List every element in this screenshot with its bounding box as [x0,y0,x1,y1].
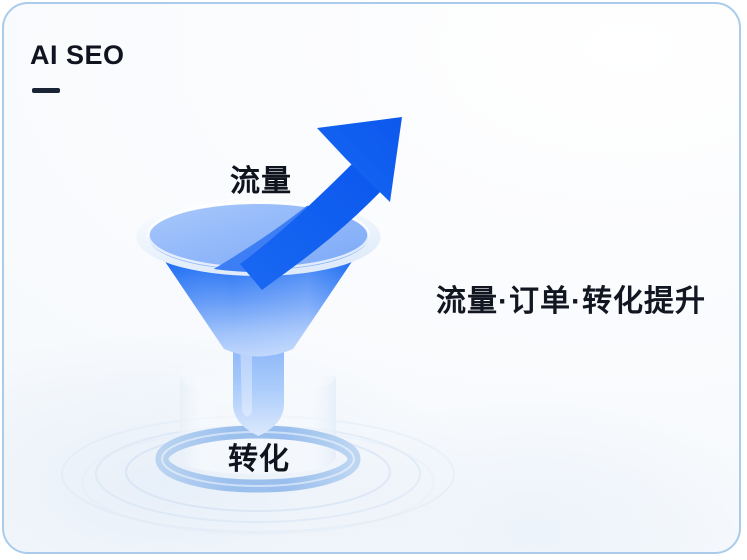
slide-card: AI SEO [2,2,741,554]
label-traffic: 流量 [230,156,292,200]
label-conversion: 转化 [228,434,290,478]
headline-text: 流量·订单·转化提升 [436,276,706,320]
